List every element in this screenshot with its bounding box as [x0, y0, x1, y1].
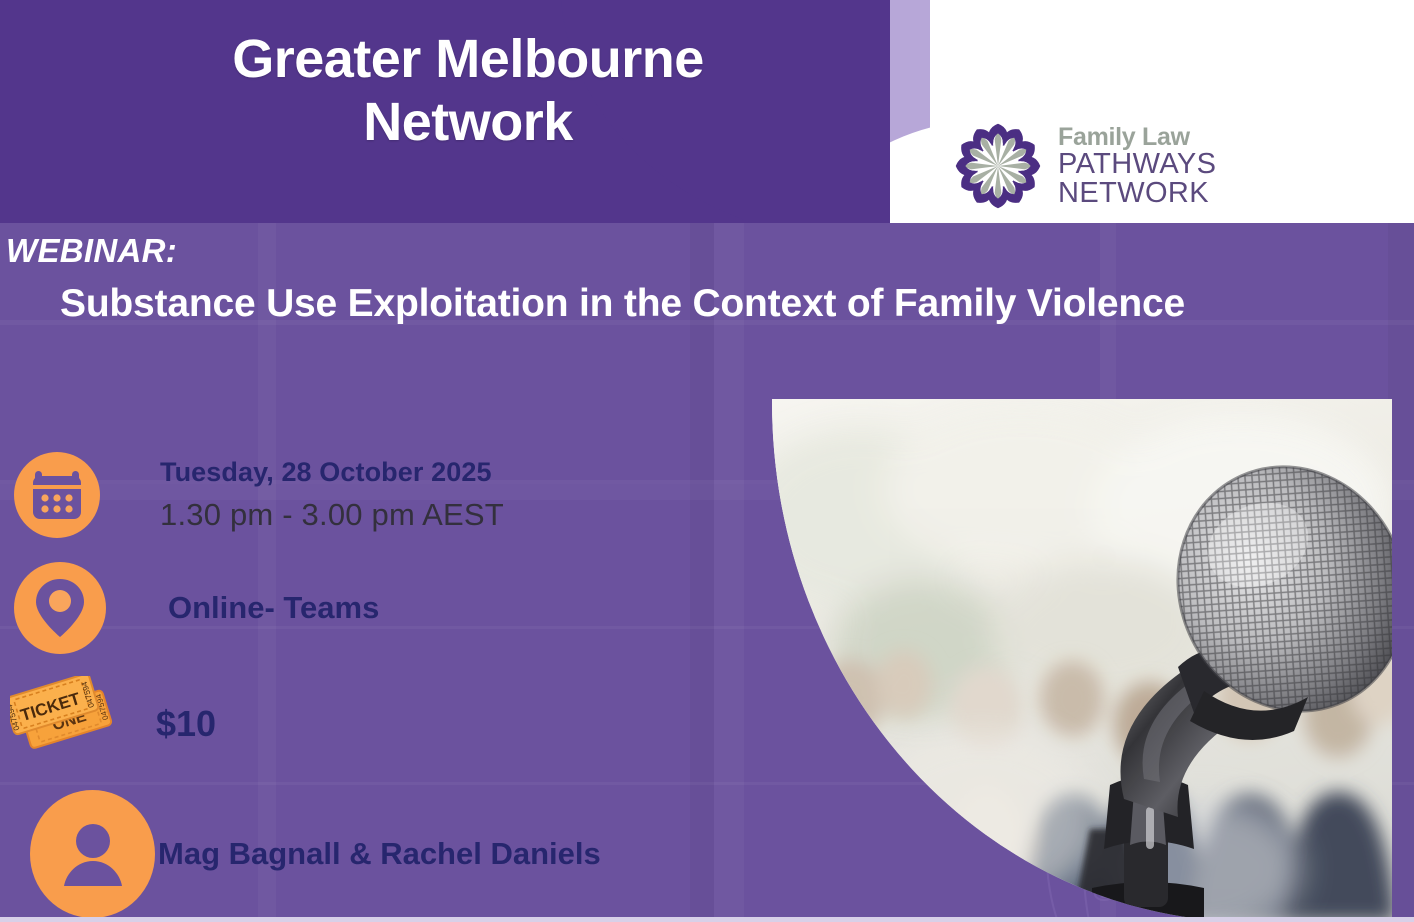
- logo-line-family-law: Family Law: [1058, 125, 1216, 150]
- datetime-text: Tuesday, 28 October 2025 1.30 pm - 3.00 …: [160, 456, 504, 535]
- webinar-label: WEBINAR:: [6, 232, 177, 270]
- event-location: Online- Teams: [168, 590, 379, 626]
- pathways-mandala-icon: [950, 118, 1046, 214]
- detail-row-datetime: Tuesday, 28 October 2025 1.30 pm - 3.00 …: [14, 452, 504, 538]
- person-icon-badge: [30, 790, 155, 918]
- bottom-divider: [0, 917, 1414, 922]
- location-pin-icon: [34, 577, 86, 639]
- person-icon: [57, 816, 129, 892]
- event-flyer: Greater Melbourne Network: [0, 0, 1414, 922]
- network-title: Greater Melbourne Network: [118, 28, 818, 153]
- network-title-line-2: Network: [118, 91, 818, 154]
- event-price: $10: [156, 703, 216, 745]
- event-title: Substance Use Exploitation in the Contex…: [60, 282, 1380, 326]
- detail-row-presenters: Mag Bagnall & Rachel Daniels: [30, 790, 601, 918]
- event-date: Tuesday, 28 October 2025: [160, 456, 504, 490]
- logo-line-pathways: PATHWAYS: [1058, 150, 1216, 179]
- network-title-line-1: Greater Melbourne: [118, 28, 818, 91]
- event-time: 1.30 pm - 3.00 pm AEST: [160, 496, 504, 535]
- logo-wordmark: Family Law PATHWAYS NETWORK: [1058, 125, 1216, 208]
- logo-line-network: NETWORK: [1058, 179, 1216, 208]
- location-icon-badge: [14, 562, 106, 654]
- family-law-pathways-network-logo: Family Law PATHWAYS NETWORK: [950, 118, 1216, 214]
- detail-row-price: ONE 047594 TICKET 047594 047594 $10: [10, 676, 216, 772]
- ticket-icon: ONE 047594 TICKET 047594 047594: [10, 676, 120, 772]
- event-presenters: Mag Bagnall & Rachel Daniels: [158, 836, 601, 872]
- calendar-icon-badge: [14, 452, 100, 538]
- detail-row-location: Online- Teams: [14, 562, 379, 654]
- calendar-icon: [29, 467, 85, 523]
